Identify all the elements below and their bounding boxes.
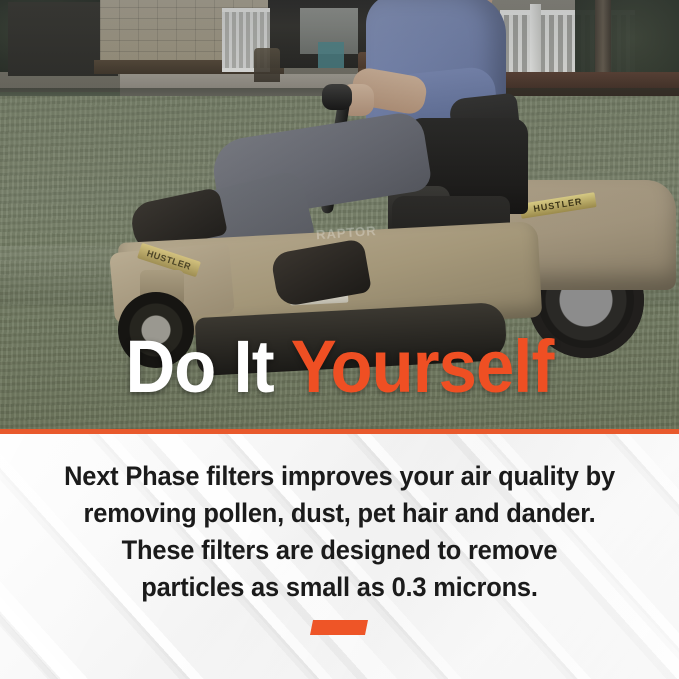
hero-headline: Do It Yourself bbox=[24, 330, 655, 404]
orange-accent-parallelogram bbox=[310, 620, 368, 635]
paragraph-line: Next Phase filters improves your air qua… bbox=[23, 458, 656, 495]
orange-divider-rule bbox=[0, 429, 679, 434]
paragraph-line: removing pollen, dust, pet hair and dand… bbox=[23, 495, 656, 532]
description-paragraph: Next Phase filters improves your air qua… bbox=[23, 458, 656, 606]
marketing-infographic-card: HUSTLER HUSTLER RAPTOR bbox=[0, 0, 679, 679]
description-panel: Next Phase filters improves your air qua… bbox=[0, 434, 679, 679]
mower-lever-grip bbox=[322, 84, 352, 110]
headline-orange-text: Yourself bbox=[291, 325, 554, 408]
hero-photo: HUSTLER HUSTLER RAPTOR bbox=[0, 0, 679, 429]
paragraph-line: particles as small as 0.3 microns. bbox=[23, 569, 656, 606]
paragraph-line: These filters are designed to remove bbox=[23, 532, 656, 569]
headline-white-text: Do It bbox=[125, 325, 290, 408]
